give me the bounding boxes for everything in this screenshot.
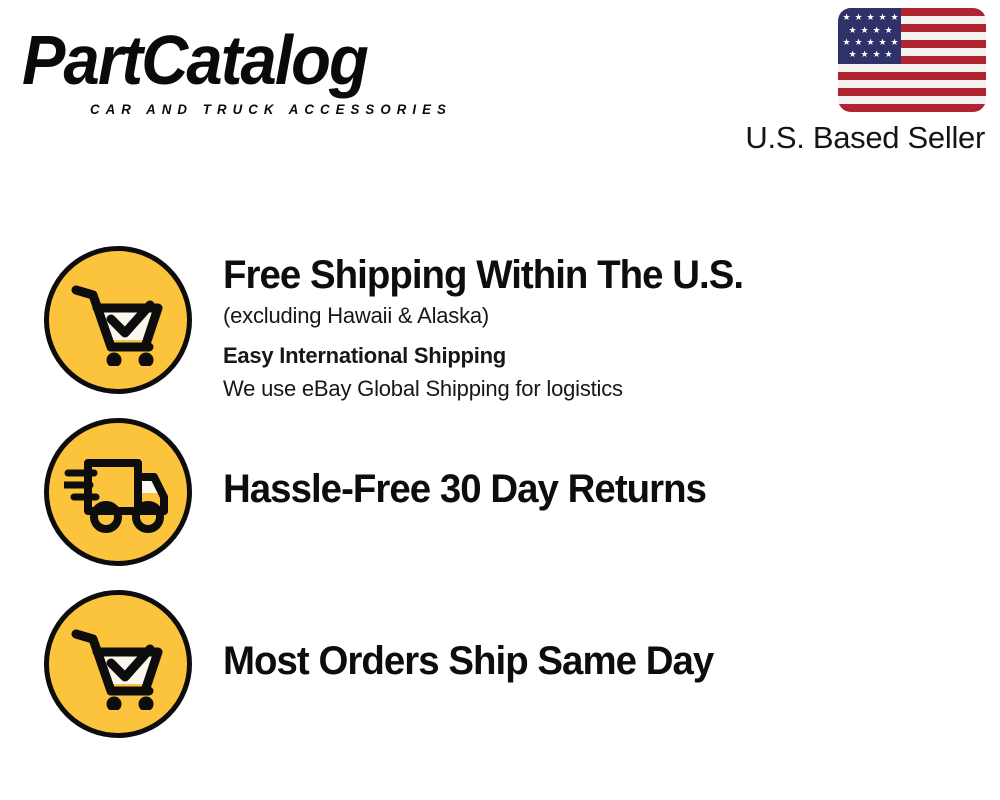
us-based-seller-badge: ★ ★ ★ ★ ★ ★ ★ ★ ★ ★ ★ ★ ★ ★ ★ ★ ★ ★ U.S.…: [686, 8, 986, 155]
delivery-truck-icon: [44, 418, 192, 566]
feature-title: Free Shipping Within The U.S.: [223, 252, 743, 298]
feature-title: Hassle-Free 30 Day Returns: [223, 466, 706, 512]
brand-wordmark: PartCatalog: [22, 22, 367, 98]
feature-subtitle: (excluding Hawaii & Alaska): [223, 301, 765, 331]
feature-text: Hassle-Free 30 Day Returns: [223, 418, 726, 512]
feature-row: Free Shipping Within The U.S. (excluding…: [44, 246, 765, 404]
shopping-cart-check-icon: [44, 590, 192, 738]
brand-tagline: CAR AND TRUCK ACCESSORIES: [90, 102, 452, 117]
brand-logo[interactable]: PartCatalog CAR AND TRUCK ACCESSORIES: [22, 22, 492, 118]
feature-title: Most Orders Ship Same Day: [223, 638, 713, 684]
feature-text: Most Orders Ship Same Day: [223, 590, 734, 684]
shopping-cart-check-icon: [44, 246, 192, 394]
feature-subtitle: We use eBay Global Shipping for logistic…: [223, 374, 765, 404]
feature-row: Hassle-Free 30 Day Returns: [44, 418, 726, 566]
feature-subtitle-bold: Easy International Shipping: [223, 341, 765, 371]
us-based-seller-label: U.S. Based Seller: [686, 121, 985, 155]
feature-text: Free Shipping Within The U.S. (excluding…: [223, 246, 765, 404]
feature-row: Most Orders Ship Same Day: [44, 590, 734, 738]
us-flag-icon: ★ ★ ★ ★ ★ ★ ★ ★ ★ ★ ★ ★ ★ ★ ★ ★ ★ ★: [838, 8, 986, 112]
